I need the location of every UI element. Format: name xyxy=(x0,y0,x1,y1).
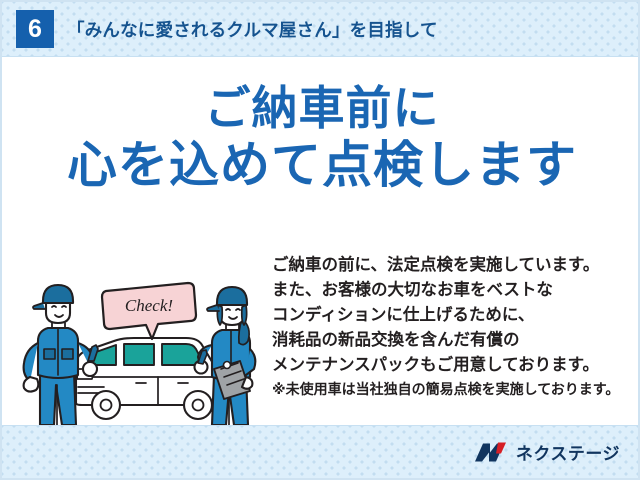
body-line: メンテナンスパックもご用意しております。 xyxy=(272,353,640,378)
body-line: コンディションに仕上げるために、 xyxy=(272,303,640,328)
mechanics-inspection-illustration: Check! xyxy=(18,257,268,432)
promo-poster: 6 「みんなに愛されるクルマ屋さん」を目指して ご納車前に 心を込めて点検します xyxy=(0,0,640,480)
headline: ご納車前に 心を込めて点検します xyxy=(2,85,640,191)
body-copy: ご納車の前に、法定点検を実施しています。 また、お客様の大切なお車をベストな コ… xyxy=(272,253,640,400)
poster-main: ご納車前に 心を込めて点検します xyxy=(2,57,640,427)
body-line: また、お客様の大切なお車をベストな xyxy=(272,278,640,303)
poster-footer: ネクステージ xyxy=(2,425,640,478)
brand-logo: ネクステージ xyxy=(473,440,620,465)
poster-header: 6 「みんなに愛されるクルマ屋さん」を目指して xyxy=(2,2,640,57)
content-row: Check! ご納車の前に、法定点検を実施しています。 また、お客様の大切なお車… xyxy=(2,249,640,424)
brand-name: ネクステージ xyxy=(516,440,620,465)
header-title: 「みんなに愛されるクルマ屋さん」を目指して xyxy=(67,17,438,42)
body-line: 消耗品の新品交換を含んだ有償の xyxy=(272,328,640,353)
body-line: ご納車の前に、法定点検を実施しています。 xyxy=(272,253,640,278)
headline-line-1: ご納車前に xyxy=(2,85,640,133)
headline-line-2: 心を込めて点検します xyxy=(2,139,640,191)
nextage-n-logo-icon xyxy=(473,440,509,464)
body-footnote: ※未使用車は当社独自の簡易点検を実施しております。 xyxy=(272,379,640,400)
check-bubble-label: Check! xyxy=(125,296,173,315)
section-number-badge: 6 xyxy=(16,10,54,48)
